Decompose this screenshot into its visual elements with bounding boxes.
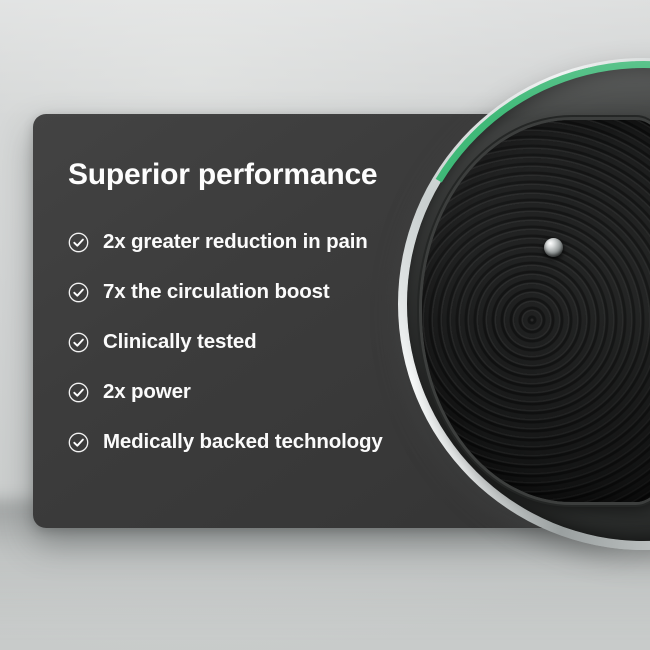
check-circle-icon	[68, 332, 89, 353]
benefits-list: 2x greater reduction in pain 7x the circ…	[68, 217, 618, 467]
check-circle-icon	[68, 432, 89, 453]
feature-card: Superior performance 2x greater reductio…	[33, 114, 618, 528]
list-item-label: 7x the circulation boost	[103, 280, 330, 304]
scene-root: Superior performance 2x greater reductio…	[0, 0, 650, 650]
list-item-label: Clinically tested	[103, 330, 257, 354]
list-item: Medically backed technology	[68, 417, 618, 467]
list-item: Clinically tested	[68, 317, 618, 367]
list-item-label: Medically backed technology	[103, 430, 383, 454]
check-circle-icon	[68, 232, 89, 253]
list-item: 7x the circulation boost	[68, 267, 618, 317]
list-item-label: 2x greater reduction in pain	[103, 230, 368, 254]
feature-card-content: Superior performance 2x greater reductio…	[33, 114, 618, 528]
check-circle-icon	[68, 382, 89, 403]
list-item: 2x power	[68, 367, 618, 417]
top-light-gradient	[0, 0, 650, 118]
list-item: 2x greater reduction in pain	[68, 217, 618, 267]
list-item-label: 2x power	[103, 380, 191, 404]
check-circle-icon	[68, 282, 89, 303]
page-title: Superior performance	[68, 158, 618, 191]
